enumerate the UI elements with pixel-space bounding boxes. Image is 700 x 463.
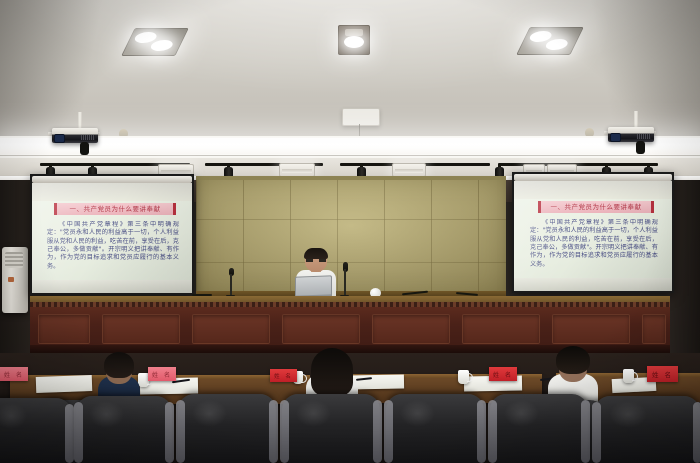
right-screen-roller: [514, 174, 672, 181]
chair-front-7[interactable]: [594, 396, 700, 463]
gooseneck-microphone-center: [340, 262, 350, 298]
side-wall-right: [670, 180, 700, 360]
ceiling-junction-box: [342, 108, 380, 126]
cove-strip-light: [0, 138, 700, 154]
right-projection-screen: 一、共产党员为什么要讲奉献 《中国共产党章程》第三条中明确规定："党员永和人民的…: [512, 172, 674, 293]
ceiling-projector-left: [52, 128, 98, 143]
glasses-icon: [306, 259, 326, 262]
gooseneck-microphone-left: [226, 268, 236, 298]
light-track-right: [498, 163, 658, 166]
chair-front-5[interactable]: [386, 394, 484, 463]
presenter-hair: [304, 248, 328, 259]
name-card-5: 姓 名: [647, 366, 678, 382]
left-screen-surface: 一、共产党员为什么要讲奉献 《中国共产党章程》第三条中明确规定："党员永和人民的…: [32, 183, 192, 293]
chair-front-1[interactable]: [0, 398, 72, 463]
name-card-3: 姓 名: [270, 369, 297, 382]
chair-front-2[interactable]: [76, 396, 172, 463]
back-wall-shading: [196, 176, 506, 301]
name-card-1: 姓 名: [0, 367, 28, 381]
name-card-2: 姓 名: [148, 367, 176, 381]
ceiling-downlight-2: [279, 163, 315, 177]
left-projection-screen: 一、共产党员为什么要讲奉献 《中国共产党章程》第三条中明确规定："党员永和人民的…: [30, 174, 194, 295]
floor-standing-air-conditioner: [2, 247, 28, 313]
air-conditioner-vent: [5, 252, 23, 268]
document-1: [36, 375, 93, 393]
recessed-light-center-icon: [338, 25, 370, 55]
chair-front-3[interactable]: [178, 394, 276, 463]
ceiling-downlight-3: [392, 163, 426, 177]
conference-hall-photo: 一、共产党员为什么要讲奉献 《中国共产党章程》第三条中明确规定："党员永和人民的…: [0, 0, 700, 463]
cup-3: [458, 370, 469, 384]
left-screen-roller: [32, 176, 192, 183]
right-screen-surface: 一、共产党员为什么要讲奉献 《中国共产党章程》第三条中明确规定："党员永和人民的…: [514, 181, 672, 291]
air-conditioner-indicator: [8, 277, 14, 282]
chair-front-4[interactable]: [282, 394, 380, 463]
projector-drop-left: [80, 142, 89, 155]
name-card-4: 姓 名: [489, 367, 517, 381]
back-wall-top-trim: [196, 176, 506, 180]
cup-4: [623, 369, 634, 383]
projector-drop-right: [636, 141, 645, 154]
ceiling-projector-right: [608, 127, 654, 142]
soffit-seam: [0, 155, 700, 156]
chair-front-6[interactable]: [490, 394, 588, 463]
